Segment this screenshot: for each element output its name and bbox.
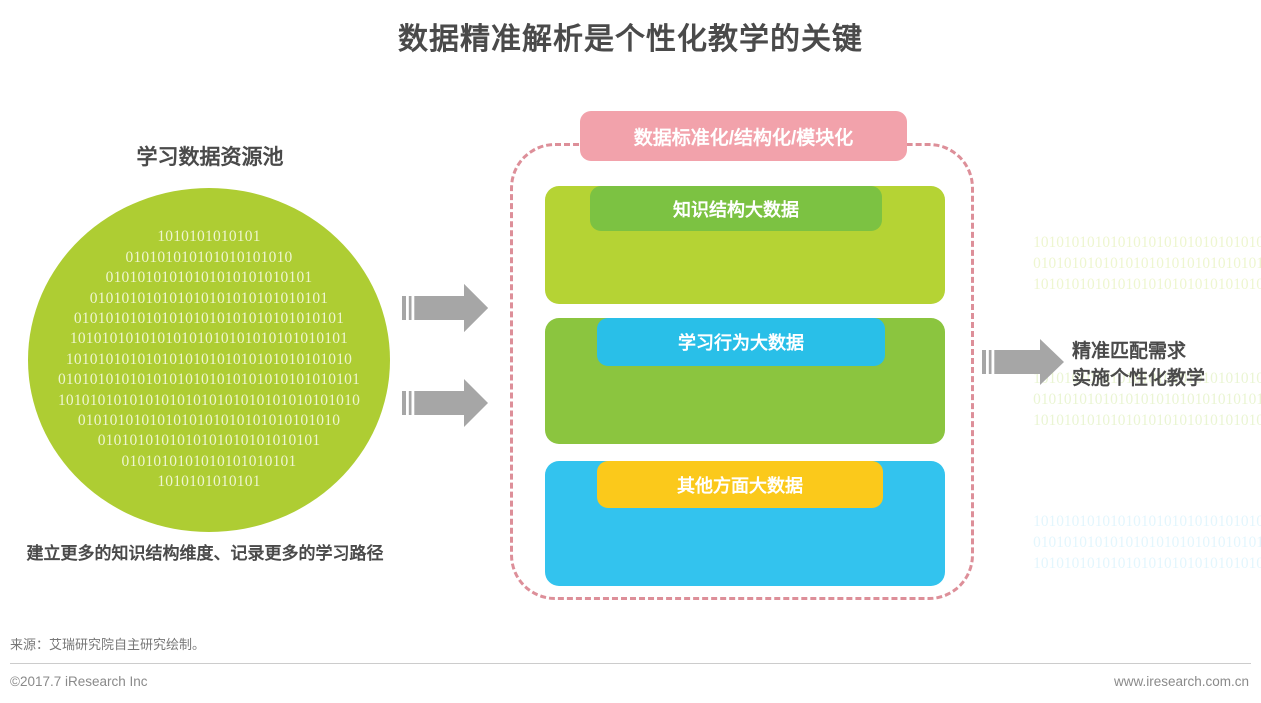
outcome-line-2: 实施个性化教学	[1072, 365, 1205, 392]
standardization-banner: 数据标准化/结构化/模块化	[580, 111, 907, 161]
binary-row: 10101010101010101010101010101010101010	[58, 391, 360, 411]
pool-label: 学习数据资源池	[30, 141, 390, 171]
outcome-line-1: 精准匹配需求	[1072, 338, 1205, 365]
copyright-text: ©2017.7 iResearch Inc	[10, 674, 148, 689]
binary-row: 10101010101010101010101010101010101	[70, 329, 348, 349]
binary-row: 0101010101010101010101010101	[98, 431, 321, 451]
binary-row: 1010101010101010101010101010101010101	[545, 274, 1261, 295]
binary-row: 1010101010101010101010101010101010101	[545, 553, 1261, 574]
page-title: 数据精准解析是个性化教学的关键	[0, 14, 1261, 58]
binary-row: 1010101010101010101010101010101010101	[545, 511, 1261, 532]
arrow-right-icon-tail-2	[402, 377, 490, 429]
binary-row: 01010101010101010101010101010101010101	[58, 370, 360, 390]
binary-row: 1010101010101	[157, 472, 260, 492]
binary-row: 1010101010101010101010101010101010101	[545, 232, 1261, 253]
binary-row: 101010101010101010101010101010101010	[66, 350, 352, 370]
binary-row: 1010101010101	[157, 227, 260, 247]
binary-row: 010101010101010101010101010101	[90, 289, 329, 309]
card-knowledge-structure-binary: 1010101010101010101010101010101010101 01…	[545, 232, 1261, 295]
card-other-aspects-header: 其他方面大数据	[597, 461, 883, 508]
card-other-aspects-binary: 1010101010101010101010101010101010101 01…	[545, 511, 1261, 574]
slide-canvas: 数据精准解析是个性化教学的关键 学习数据资源池 1010101010101 01…	[0, 0, 1261, 703]
binary-row: 0101010101010101010101010101010101	[74, 309, 344, 329]
binary-row: 1010101010101010101010101010101010101	[545, 410, 1261, 431]
arrow-right-icon-tail-1	[402, 282, 490, 334]
binary-row: 0101010101010101010101010101010101010	[545, 253, 1261, 274]
binary-row: 010101010101010101010	[126, 248, 293, 268]
data-pool-circle: 1010101010101 010101010101010101010 0101…	[28, 188, 390, 532]
source-note: 来源：艾瑞研究院自主研究绘制。	[10, 634, 205, 653]
website-link[interactable]: www.iresearch.com.cn	[1114, 674, 1249, 689]
binary-row: 010101010101010101010101010101010	[78, 411, 340, 431]
footer-divider	[10, 663, 1251, 664]
binary-row: 01010101010101010101010101	[106, 268, 313, 288]
arrow-right-icon-outcome	[982, 337, 1066, 387]
card-learning-behavior-header: 学习行为大数据	[597, 318, 885, 366]
card-knowledge-structure-header: 知识结构大数据	[590, 186, 882, 231]
binary-row: 0101010101010101010101	[122, 452, 297, 472]
binary-row: 0101010101010101010101010101010101010	[545, 389, 1261, 410]
pool-caption: 建立更多的知识结构维度、记录更多的学习路径	[10, 541, 400, 566]
binary-row: 0101010101010101010101010101010101010	[545, 532, 1261, 553]
outcome-label: 精准匹配需求 实施个性化教学	[1072, 338, 1205, 392]
